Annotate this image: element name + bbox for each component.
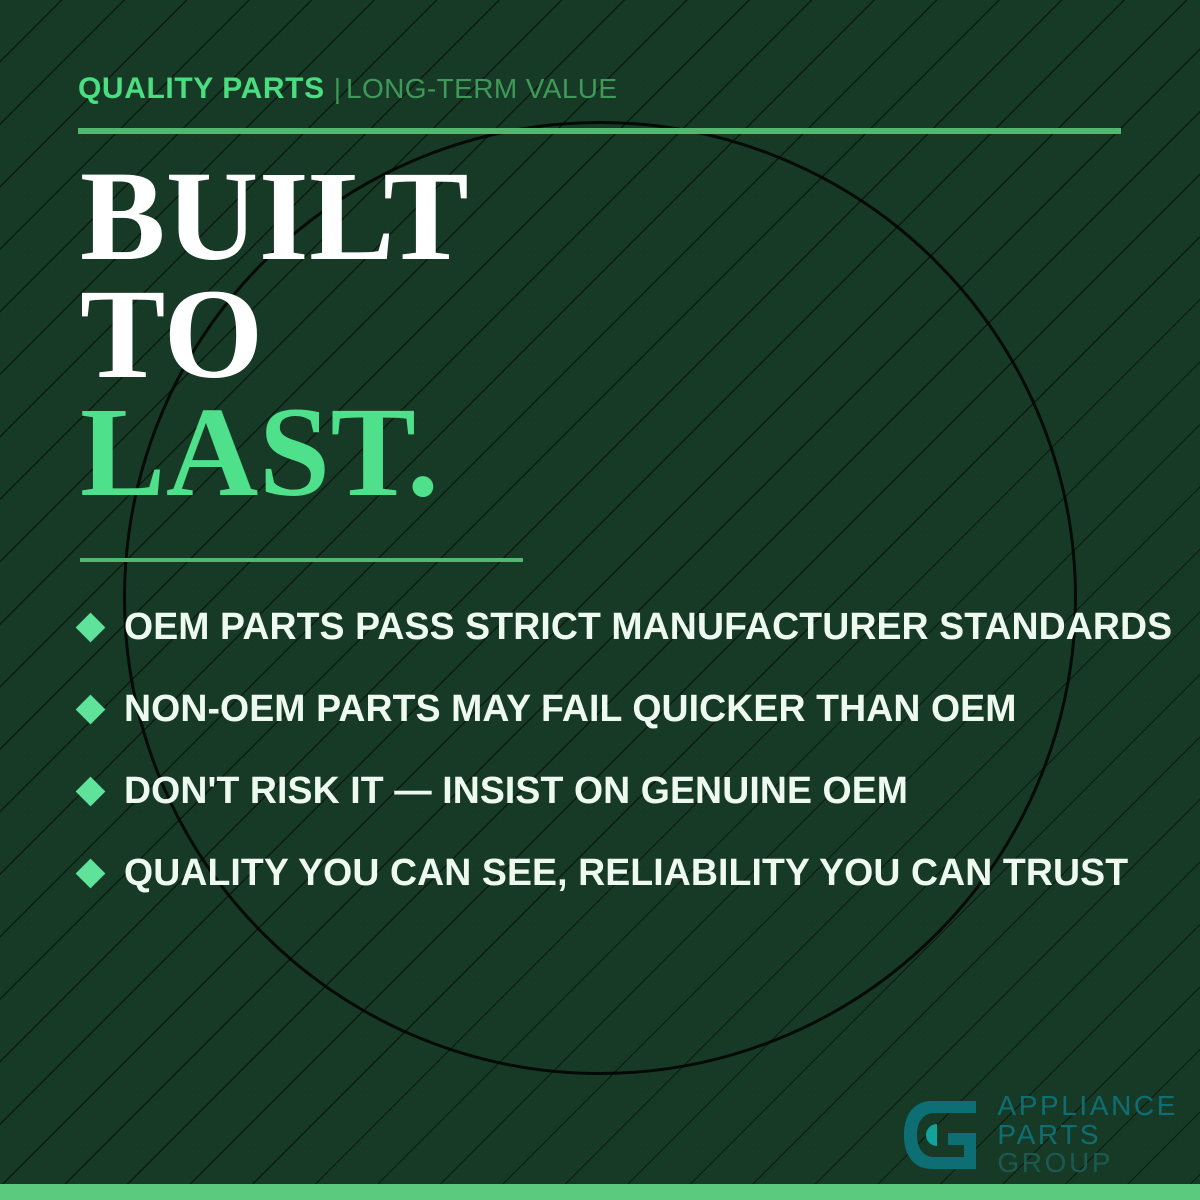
list-item: QUALITY YOU CAN SEE, RELIABILITY YOU CAN… [80,832,1150,914]
diamond-bullet-icon [76,776,106,806]
brand-word-2: PARTS [997,1121,1178,1150]
eyebrow-header: QUALITY PARTS|LONG-TERM VALUE [78,74,618,104]
headline-divider-rule [80,558,523,562]
diamond-bullet-icon [76,694,106,724]
page-title: BUILT TO LAST. [80,158,469,511]
list-item: OEM PARTS PASS STRICT MANUFACTURER STAND… [80,586,1150,668]
list-item: NON-OEM PARTS MAY FAIL QUICKER THAN OEM [80,668,1150,750]
g-monogram-icon [896,1093,984,1177]
headline-line-2: TO [80,276,469,394]
list-item-label: OEM PARTS PASS STRICT MANUFACTURER STAND… [124,606,1172,649]
diamond-bullet-icon [76,612,106,642]
header-divider-rule [78,128,1121,134]
brand-word-1: APPLIANCE [997,1092,1178,1121]
brand-word-3: GROUP [997,1149,1178,1178]
poster-canvas: QUALITY PARTS|LONG-TERM VALUE BUILT TO L… [0,0,1200,1200]
diamond-bullet-icon [76,858,106,888]
eyebrow-kicker: QUALITY PARTS [78,72,325,105]
eyebrow-separator: | [334,73,341,104]
headline-line-3: LAST. [80,394,469,512]
list-item: DON'T RISK IT — INSIST ON GENUINE OEM [80,750,1150,832]
list-item-label: NON-OEM PARTS MAY FAIL QUICKER THAN OEM [124,688,1017,731]
benefits-list: OEM PARTS PASS STRICT MANUFACTURER STAND… [80,586,1150,914]
brand-wordmark: APPLIANCE PARTS GROUP [997,1092,1178,1178]
bottom-accent-bar [0,1184,1200,1200]
list-item-label: DON'T RISK IT — INSIST ON GENUINE OEM [124,770,908,813]
list-item-label: QUALITY YOU CAN SEE, RELIABILITY YOU CAN… [124,852,1128,895]
brand-logo: APPLIANCE PARTS GROUP [896,1092,1178,1178]
headline-line-1: BUILT [80,158,469,276]
eyebrow-subtitle: LONG-TERM VALUE [346,73,618,104]
